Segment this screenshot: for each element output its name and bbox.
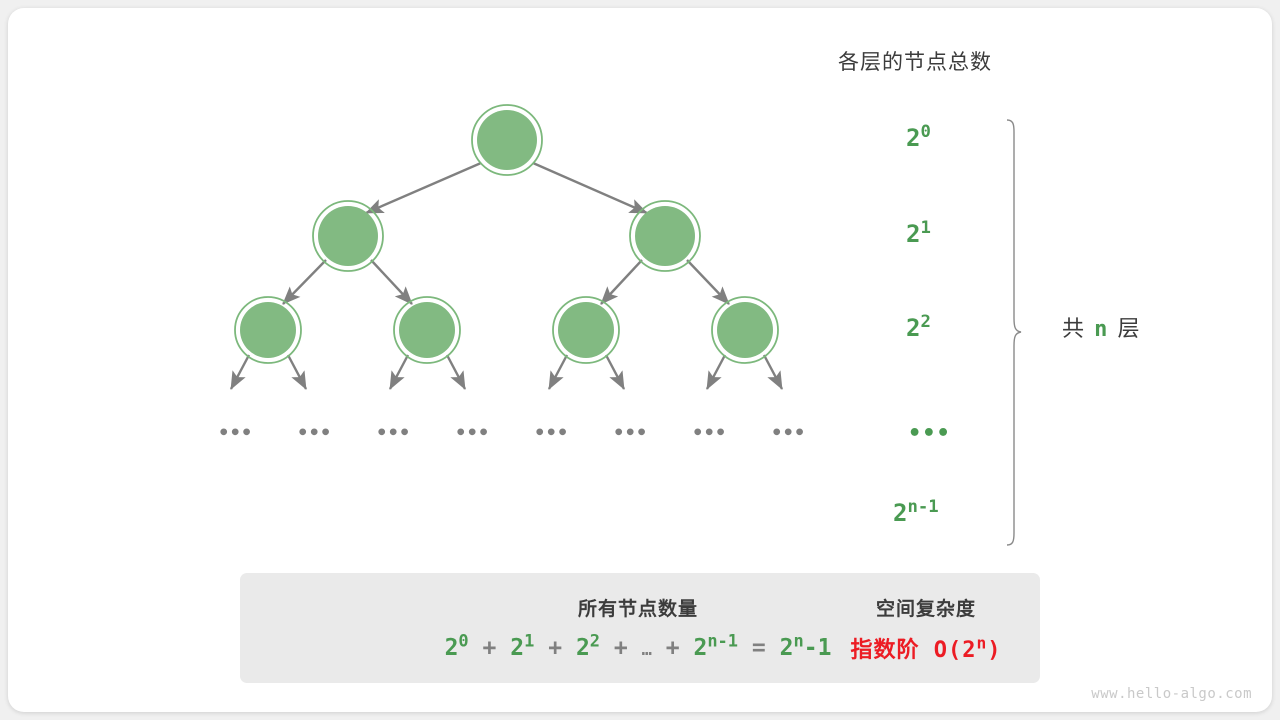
leaf-ellipsis: ••• [218,424,252,443]
leaf-ellipsis: ••• [692,424,726,443]
formula-term-0-base: 2 [445,635,459,661]
tree-node [635,206,695,266]
all-nodes-formula: 20 + 21 + 22 + … + 2n-1 = 2n-1 [445,637,832,660]
summary-panel [240,573,1040,683]
leaf-ellipsis: ••• [613,424,647,443]
space-complexity-title: 空间复杂度 [876,600,976,619]
formula-dots: … [642,640,652,660]
formula-term-2-exp: 1 [524,631,534,651]
formula-result-exp: n [793,631,803,651]
level-brace [1007,120,1021,545]
formula-term-0-exp: 0 [458,631,468,651]
watermark: www.hello-algo.com [1091,686,1252,702]
level-count-ellipsis: ••• [908,423,951,445]
level-count-0: 20 [906,126,931,150]
level-count-0-base: 2 [906,124,920,152]
formula-term-2: 21 [510,635,534,661]
tree-node [477,110,537,170]
formula-op-7: + [666,635,680,661]
total-layers-suffix: 层 [1118,316,1142,341]
level-count-2: 22 [906,316,931,340]
complexity-notation-exp: n [976,634,987,653]
level-count-last: 2n-1 [893,501,939,525]
formula-term-8: 2n-1 [693,635,738,661]
complexity-notation-prefix: O(2 [934,638,977,663]
tree-node [318,206,378,266]
figure-canvas: 各层的节点总数 20 21 22 ••• 2n-1 共 n 层 ••• ••• … [0,0,1280,720]
total-layers-label: 共 n 层 [1062,318,1142,341]
figure-heading: 各层的节点总数 [838,52,992,73]
leaf-ellipsis: ••• [771,424,805,443]
formula-term-4: 22 [576,635,600,661]
formula-term-8-exp: n-1 [707,631,738,651]
formula-term-4-base: 2 [576,635,590,661]
level-count-last-exp: n-1 [907,497,938,517]
formula-term-4-exp: 2 [590,631,600,651]
tree-node [399,302,455,358]
level-count-1: 21 [906,222,931,246]
formula-op-3: + [548,635,562,661]
formula-result: 2n-1 [780,635,832,661]
leaf-ellipsis: ••• [297,424,331,443]
space-complexity-value: 指数阶 O(2n) [850,639,1001,662]
tree-edges [231,163,782,389]
formula-term-8-base: 2 [693,635,707,661]
leaf-ellipsis: ••• [455,424,489,443]
formula-term-2-base: 2 [510,635,524,661]
tree-node [240,302,296,358]
complexity-notation-suffix: ) [987,638,1001,663]
total-layers-variable: n [1094,317,1109,342]
formula-term-0: 20 [445,635,469,661]
all-nodes-title: 所有节点数量 [578,600,698,619]
formula-result-tail: -1 [804,635,832,661]
level-count-1-base: 2 [906,220,920,248]
formula-op-equals: = [752,635,766,661]
tree-node [717,302,773,358]
formula-op-5: + [614,635,628,661]
tree-nodes [235,105,778,363]
formula-op-1: + [483,635,497,661]
leaf-ellipsis: ••• [376,424,410,443]
level-count-2-base: 2 [906,314,920,342]
complexity-label: 指数阶 [850,637,919,662]
level-count-2-exp: 2 [920,312,930,332]
formula-result-base: 2 [780,635,794,661]
level-count-0-exp: 0 [920,122,930,142]
complexity-notation: O(2n) [934,638,1002,663]
tree-node [558,302,614,358]
level-count-1-exp: 1 [920,218,930,238]
total-layers-prefix: 共 [1062,316,1086,341]
level-count-last-base: 2 [893,499,907,527]
leaf-ellipsis: ••• [534,424,568,443]
